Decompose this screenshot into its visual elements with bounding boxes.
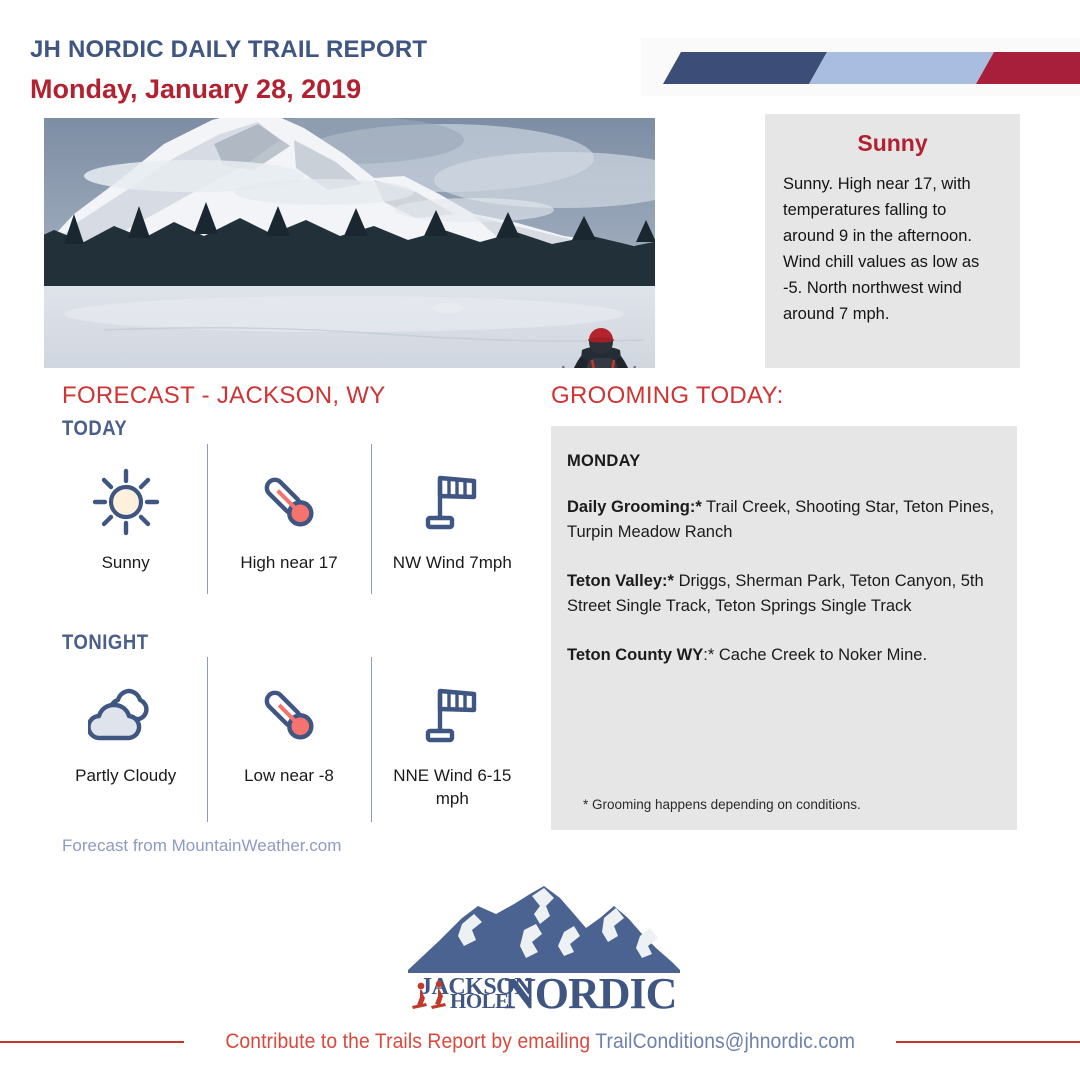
thermometer-icon — [253, 464, 325, 540]
thermometer-icon — [253, 677, 325, 753]
forecast-label: High near 17 — [240, 552, 337, 575]
forecast-label: Partly Cloudy — [75, 765, 176, 788]
footer-rule-right — [896, 1041, 1080, 1043]
forecast-cell-condition-today: Sunny — [44, 452, 207, 602]
weather-description: Sunny. High near 17, with temperatures f… — [783, 171, 1002, 327]
windsock-icon — [416, 677, 488, 753]
forecast-period-tonight-label: TONIGHT — [62, 631, 149, 655]
svg-text:HOLE: HOLE — [450, 989, 509, 1010]
grooming-entry-daily: Daily Grooming:* Trail Creek, Shooting S… — [567, 495, 999, 545]
grooming-entry-label: Teton Valley:* — [567, 572, 674, 590]
banner-stripe-graphic — [641, 38, 1080, 96]
footer-message: Contribute to the Trails Report by email… — [225, 1030, 595, 1053]
jackson-hole-nordic-logo: JACKSON HOLE NORDIC — [404, 884, 684, 1010]
grooming-panel: MONDAY Daily Grooming:* Trail Creek, Sho… — [551, 426, 1017, 830]
forecast-cell-wind-tonight: NNE Wind 6-15 mph — [371, 665, 534, 830]
hero-photo — [44, 118, 655, 368]
grooming-footnote: * Grooming happens depending on conditio… — [583, 797, 861, 812]
forecast-credit: Forecast from MountainWeather.com — [62, 836, 341, 856]
weather-summary-card: Sunny Sunny. High near 17, with temperat… — [765, 114, 1020, 368]
forecast-cell-temperature-tonight: Low near -8 — [207, 665, 370, 830]
trail-report-page: JH NORDIC DAILY TRAIL REPORT Monday, Jan… — [0, 0, 1080, 1080]
grooming-entry-label: Daily Grooming:* — [567, 498, 702, 516]
footer-rule-left — [0, 1041, 184, 1043]
forecast-cell-condition-tonight: Partly Cloudy — [44, 665, 207, 830]
forecast-row-today: Sunny High near 17 — [44, 452, 534, 602]
grooming-entry-teton-county: Teton County WY:* Cache Creek to Noker M… — [567, 643, 999, 668]
grooming-entry-teton-valley: Teton Valley:* Driggs, Sherman Park, Tet… — [567, 569, 999, 619]
forecast-cell-wind-today: NW Wind 7mph — [371, 452, 534, 602]
grooming-day: MONDAY — [567, 452, 999, 471]
grooming-entry-text: :* Cache Creek to Noker Mine. — [703, 646, 927, 664]
footer-text: Contribute to the Trails Report by email… — [225, 1030, 855, 1054]
forecast-period-today-label: TODAY — [62, 417, 127, 441]
svg-text:NORDIC: NORDIC — [504, 969, 676, 1010]
footer-email[interactable]: TrailConditions@jhnordic.com — [595, 1030, 855, 1053]
weather-condition-title: Sunny — [783, 130, 1002, 157]
cloud-icon — [88, 677, 164, 753]
forecast-label: NW Wind 7mph — [393, 552, 512, 575]
sun-icon — [90, 464, 162, 540]
forecast-heading: FORECAST - JACKSON, WY — [62, 382, 386, 410]
forecast-label: NNE Wind 6-15 mph — [387, 765, 517, 811]
grooming-heading: GROOMING TODAY: — [551, 382, 784, 410]
page-title: JH NORDIC DAILY TRAIL REPORT — [30, 36, 427, 64]
forecast-cell-temperature-today: High near 17 — [207, 452, 370, 602]
forecast-label: Sunny — [102, 552, 150, 575]
windsock-icon — [416, 464, 488, 540]
forecast-row-tonight: Partly Cloudy Low near -8 — [44, 665, 534, 830]
grooming-entry-label: Teton County WY — [567, 646, 703, 664]
footer: Contribute to the Trails Report by email… — [0, 1022, 1080, 1062]
report-date: Monday, January 28, 2019 — [30, 74, 361, 105]
forecast-label: Low near -8 — [244, 765, 334, 788]
